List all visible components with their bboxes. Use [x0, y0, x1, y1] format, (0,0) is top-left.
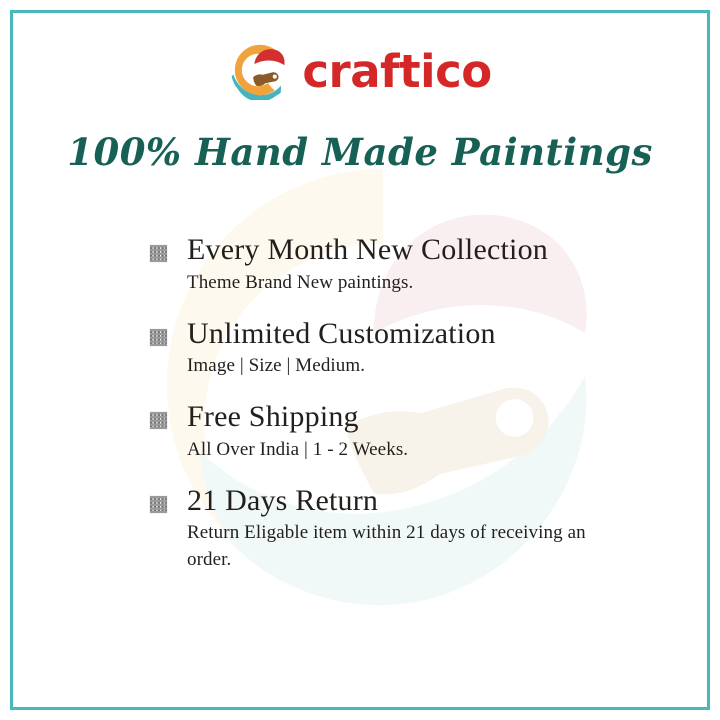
craftico-circular-brush-logo-icon — [228, 40, 288, 100]
craftico-feature-banner: craftico 100% Hand Made Paintings — [0, 0, 720, 720]
feature-description: Theme Brand New paintings. — [187, 270, 597, 297]
feature-title: Free Shipping — [187, 399, 617, 436]
feature-description: Return Eligable item within 21 days of r… — [187, 520, 597, 574]
brand-logo-lockup[interactable]: craftico — [0, 36, 720, 104]
list-item: Free Shipping All Over India | 1 - 2 Wee… — [147, 399, 617, 464]
feature-title: Every Month New Collection — [187, 232, 617, 269]
feature-list: Every Month New Collection Theme Brand N… — [147, 232, 617, 574]
list-item: Unlimited Customization Image | Size | M… — [147, 316, 617, 381]
woven-square-bullet-icon — [149, 328, 168, 347]
feature-description: Image | Size | Medium. — [187, 353, 597, 380]
feature-title: 21 Days Return — [187, 483, 617, 520]
brand-wordmark: craftico — [302, 49, 491, 94]
woven-square-bullet-icon — [149, 411, 168, 430]
woven-square-bullet-icon — [149, 244, 168, 263]
woven-square-bullet-icon — [149, 495, 168, 514]
list-item: 21 Days Return Return Eligable item with… — [147, 483, 617, 575]
feature-title: Unlimited Customization — [187, 316, 617, 353]
feature-description: All Over India | 1 - 2 Weeks. — [187, 437, 597, 464]
list-item: Every Month New Collection Theme Brand N… — [147, 232, 617, 297]
page-title: 100% Hand Made Paintings — [0, 130, 720, 174]
